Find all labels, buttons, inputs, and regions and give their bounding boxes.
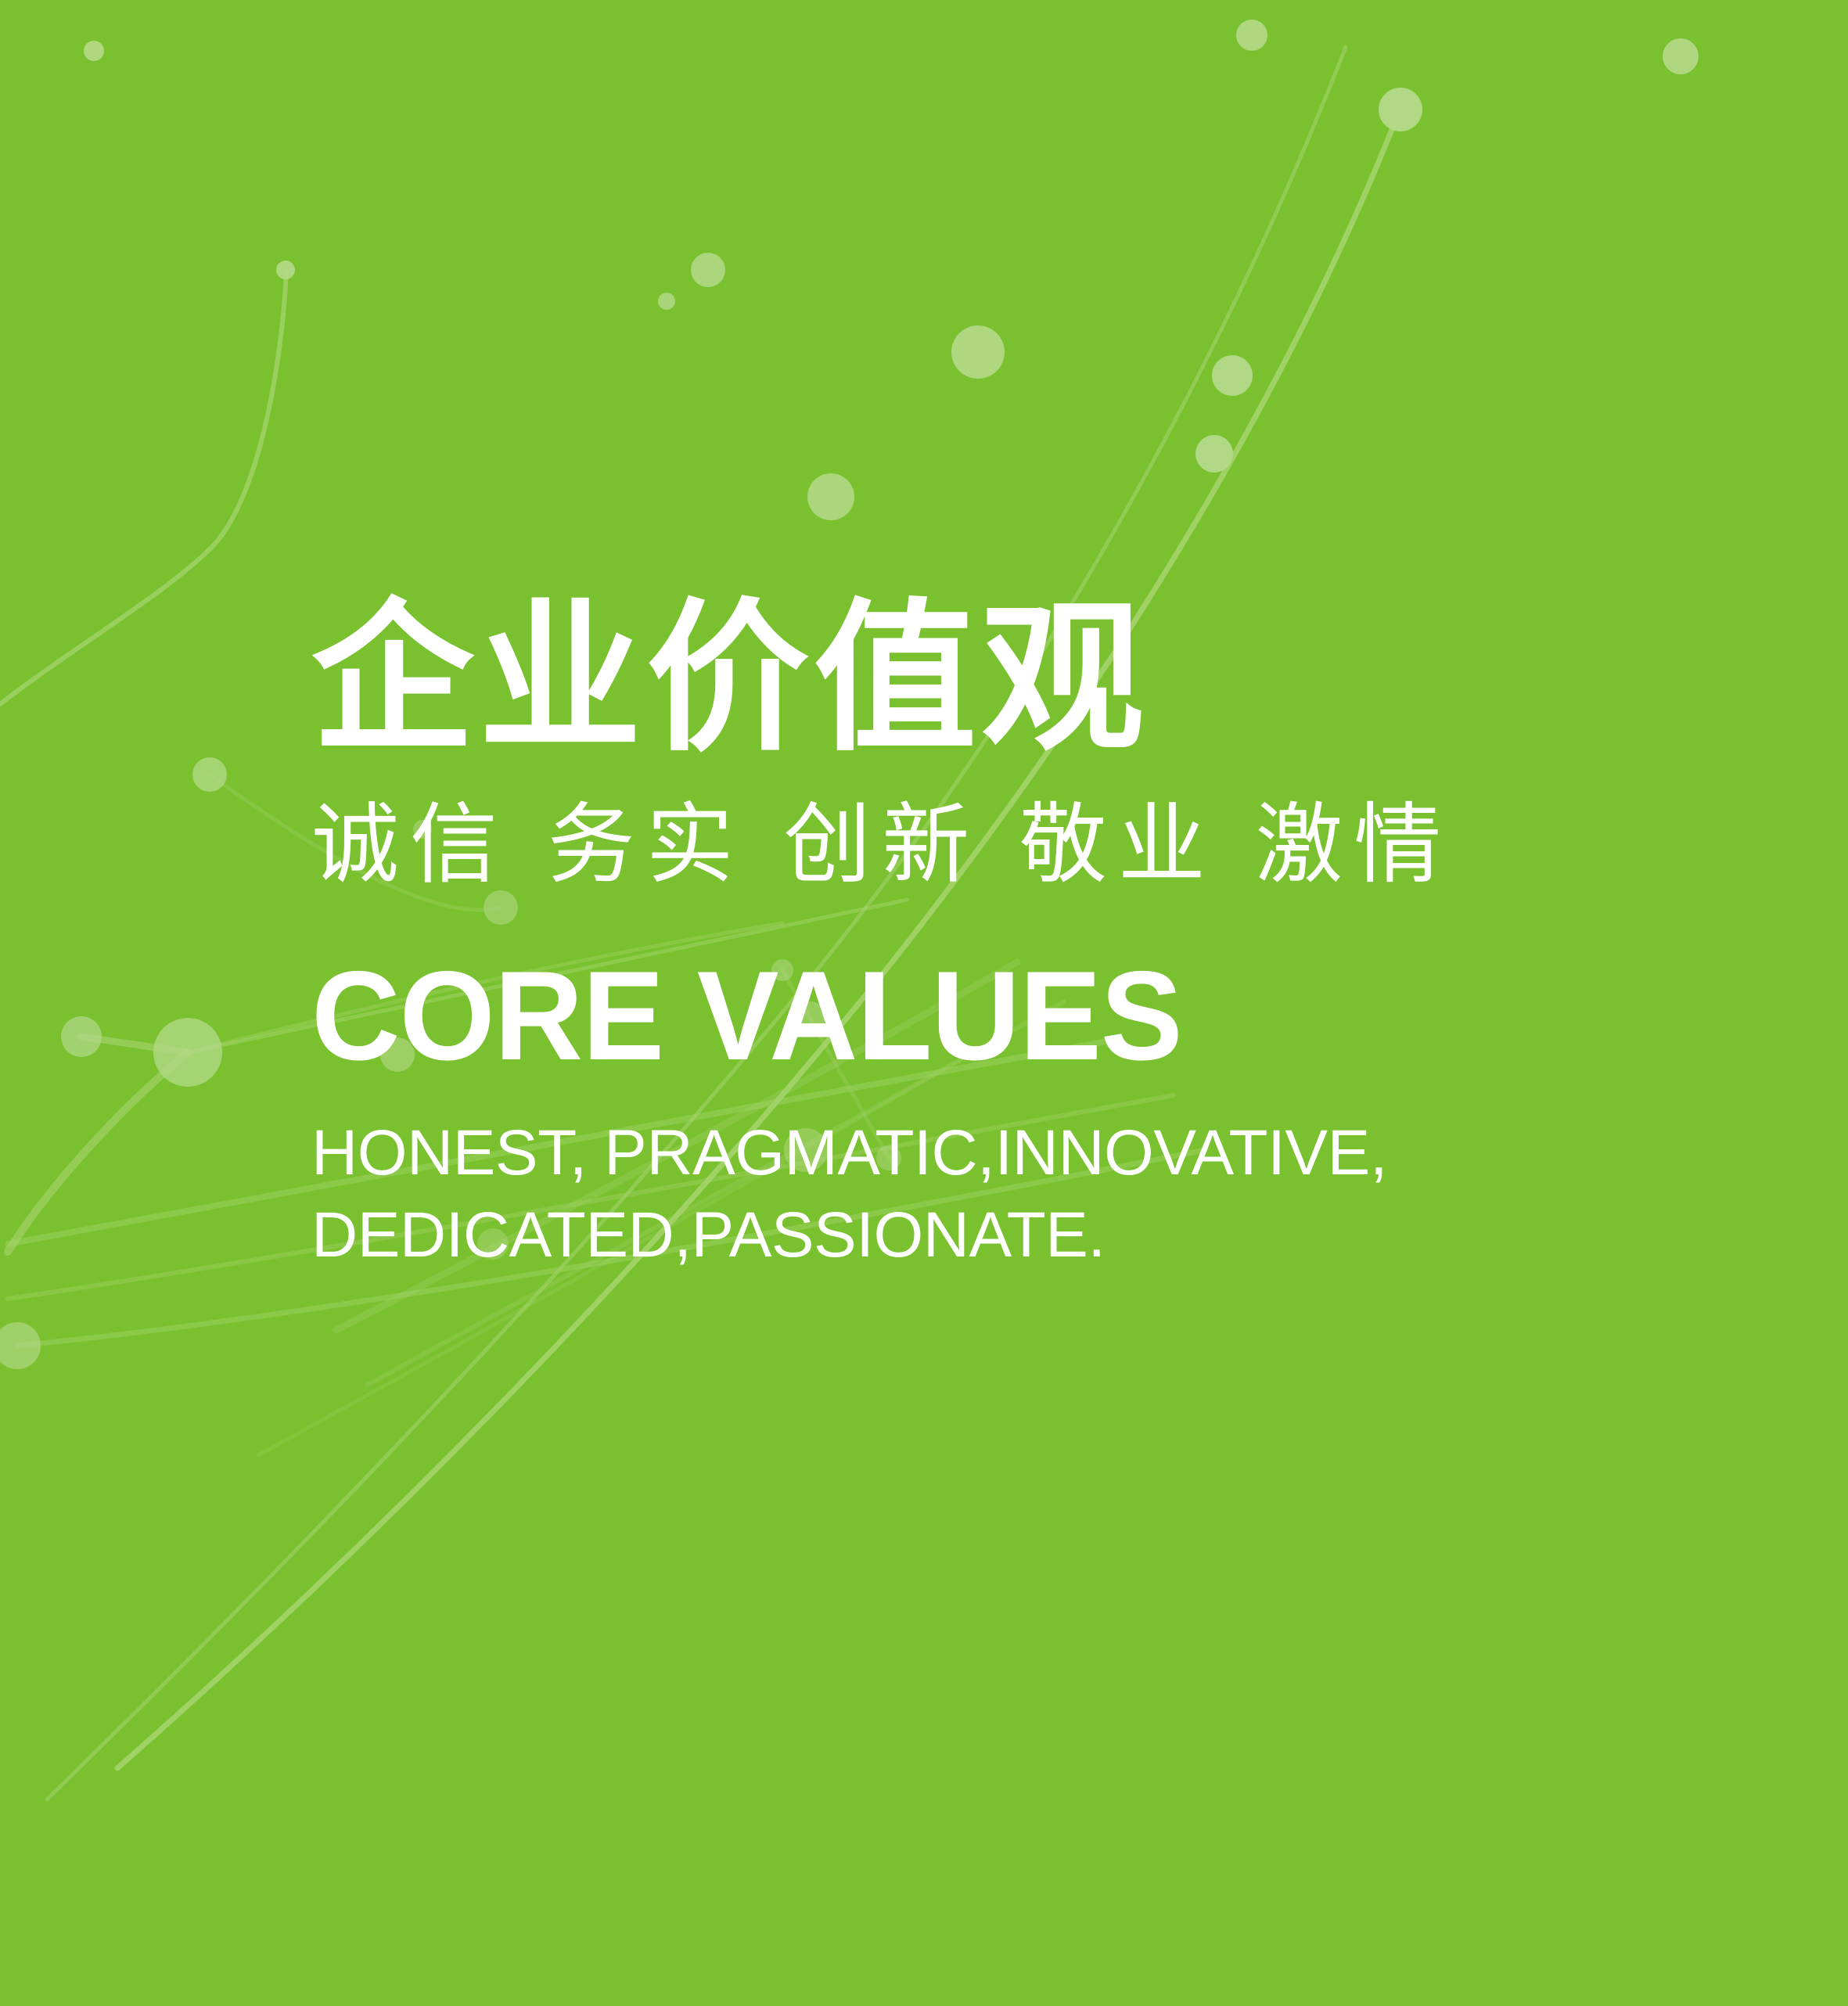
fan-line-3: [8, 1052, 188, 1252]
node-dot: [658, 293, 675, 310]
node-dot: [1212, 355, 1253, 396]
node-dot: [1236, 20, 1267, 51]
poster-canvas: 企业价值观 诚信 务实 创新 敬业 激情 CORE VALUES HONEST,…: [0, 0, 1848, 2006]
node-dot: [153, 1018, 222, 1087]
node-dot: [192, 757, 227, 792]
node-dot: [1379, 88, 1422, 131]
node-dot: [1663, 38, 1699, 74]
headline-english: CORE VALUES: [311, 953, 1677, 1080]
node-dot: [276, 261, 295, 279]
headline-chinese: 企业价值观: [311, 595, 1720, 764]
node-dot: [84, 41, 104, 61]
fan-line-2: [81, 1037, 188, 1052]
body-line-2: DEDICATED,PASSIONATE.: [311, 1195, 1720, 1277]
subheadline-chinese: 诚信 务实 创新 敬业 激情: [311, 801, 1720, 889]
node-dot: [807, 473, 854, 520]
node-dot: [0, 1322, 41, 1369]
text-block: 企业价值观 诚信 务实 创新 敬业 激情 CORE VALUES HONEST,…: [311, 595, 1720, 1277]
node-dot: [951, 325, 1005, 379]
body-line-1: HONEST, PRAGMATIC,INNOVATIVE,: [311, 1113, 1720, 1195]
node-dot: [61, 1016, 102, 1057]
body-english: HONEST, PRAGMATIC,INNOVATIVE, DEDICATED,…: [311, 1113, 1720, 1277]
node-dot: [1195, 435, 1233, 473]
node-dot: [691, 253, 725, 287]
curve-upper-left: [0, 271, 286, 704]
